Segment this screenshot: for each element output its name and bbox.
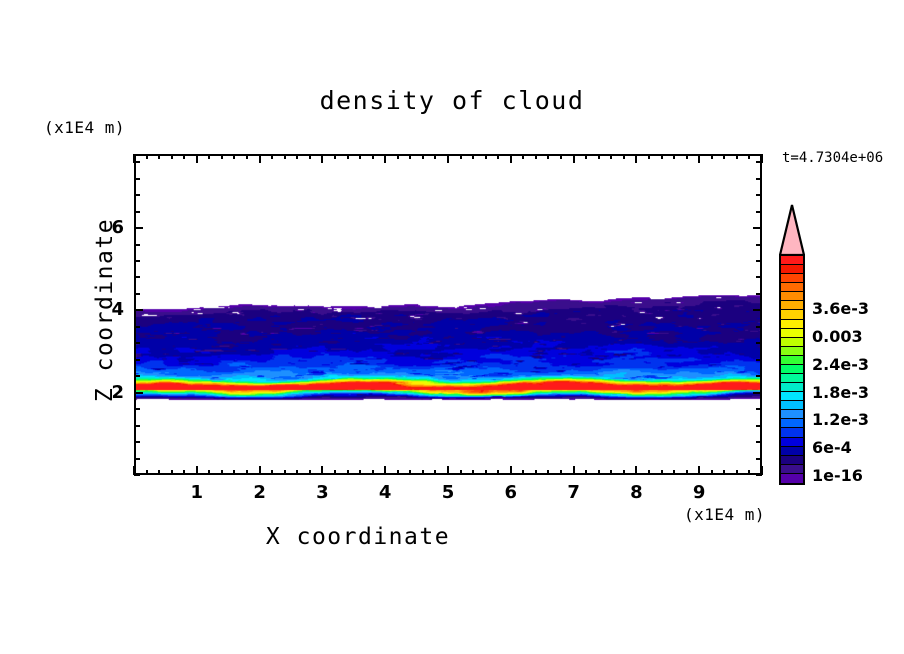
colorbar-band	[781, 356, 803, 365]
x-tick-label: 6	[491, 482, 531, 503]
x-tick	[183, 154, 185, 159]
y-tick	[134, 425, 140, 427]
colorbar-band	[781, 447, 803, 456]
x-tick	[397, 154, 399, 159]
x-tick	[497, 154, 499, 159]
y-tick	[134, 375, 140, 377]
x-tick	[711, 470, 713, 475]
x-tick	[183, 470, 185, 475]
x-tick	[246, 154, 248, 159]
colorbar-band	[781, 365, 803, 374]
x-tick-label: 9	[679, 482, 719, 503]
x-tick-label: 2	[240, 482, 280, 503]
colorbar-tick-label: 6e-4	[812, 438, 852, 457]
x-tick	[610, 154, 612, 159]
x-tick	[309, 154, 311, 159]
y-tick	[753, 227, 762, 229]
x-tick	[221, 154, 223, 159]
x-tick	[409, 154, 411, 159]
x-tick	[434, 154, 436, 159]
y-tick	[756, 293, 762, 295]
x-tick	[422, 154, 424, 159]
colorbar-band	[781, 392, 803, 401]
colorbar-tick-label: 0.003	[812, 327, 863, 346]
x-tick	[698, 154, 700, 163]
x-tick	[748, 470, 750, 475]
x-tick	[208, 470, 210, 475]
x-tick	[485, 154, 487, 159]
x-tick	[723, 154, 725, 159]
x-tick	[748, 154, 750, 159]
x-tick	[284, 470, 286, 475]
x-tick	[573, 466, 575, 475]
x-tick	[547, 154, 549, 159]
colorbar-band	[781, 265, 803, 274]
colorbar-tick-label: 1.8e-3	[812, 383, 869, 402]
x-tick	[522, 154, 524, 159]
y-tick-label: 6	[84, 217, 124, 238]
colorbar-band	[781, 329, 803, 338]
x-tick	[573, 154, 575, 163]
x-tick	[233, 470, 235, 475]
y-tick	[134, 227, 143, 229]
colorbar-band	[781, 456, 803, 465]
y-tick	[756, 244, 762, 246]
x-tick	[510, 154, 512, 163]
x-tick	[158, 470, 160, 475]
y-tick	[134, 441, 140, 443]
x-tick	[334, 154, 336, 159]
y-tick	[134, 161, 140, 163]
x-tick-label: 3	[302, 482, 342, 503]
x-tick	[334, 470, 336, 475]
x-tick	[171, 154, 173, 159]
y-tick	[756, 408, 762, 410]
x-tick	[447, 154, 449, 163]
y-tick	[134, 392, 143, 394]
y-tick	[756, 441, 762, 443]
x-tick	[585, 154, 587, 159]
y-tick	[756, 474, 762, 476]
x-tick	[309, 470, 311, 475]
x-tick	[284, 154, 286, 159]
y-tick	[134, 276, 140, 278]
x-tick-label: 7	[554, 482, 594, 503]
colorbar-band	[781, 474, 803, 483]
y-tick	[756, 458, 762, 460]
y-tick	[756, 260, 762, 262]
x-tick	[409, 470, 411, 475]
y-tick	[134, 244, 140, 246]
colorbar-band	[781, 292, 803, 301]
x-tick	[673, 470, 675, 475]
x-tick	[146, 470, 148, 475]
x-tick	[259, 466, 261, 475]
y-tick	[756, 276, 762, 278]
x-tick	[673, 154, 675, 159]
x-tick	[610, 470, 612, 475]
y-tick	[134, 178, 140, 180]
x-tick	[158, 154, 160, 159]
x-tick	[598, 154, 600, 159]
x-tick	[485, 470, 487, 475]
page-title: density of cloud	[0, 86, 904, 115]
x-tick-label: 4	[365, 482, 405, 503]
colorbar-band	[781, 320, 803, 329]
colorbar-band	[781, 338, 803, 347]
x-tick	[736, 470, 738, 475]
y-axis-units-label: (x1E4 m)	[44, 118, 125, 137]
x-tick	[661, 154, 663, 159]
x-axis-units-label: (x1E4 m)	[684, 505, 765, 524]
y-tick	[134, 474, 140, 476]
y-tick	[756, 161, 762, 163]
x-tick	[221, 470, 223, 475]
colorbar-tick-label: 2.4e-3	[812, 355, 869, 374]
time-annotation: t=4.7304e+06	[782, 150, 883, 166]
colorbar-band	[781, 310, 803, 319]
x-tick	[560, 154, 562, 159]
x-tick	[359, 470, 361, 475]
x-tick	[686, 470, 688, 475]
x-tick	[434, 470, 436, 475]
y-tick	[753, 309, 762, 311]
y-tick-label: 4	[84, 299, 124, 320]
x-tick	[146, 154, 148, 159]
x-tick	[635, 466, 637, 475]
colorbar-tick-label: 1.2e-3	[812, 410, 869, 429]
contour-field	[136, 156, 760, 473]
x-tick	[585, 470, 587, 475]
y-tick	[134, 211, 140, 213]
y-tick	[756, 342, 762, 344]
x-tick	[736, 154, 738, 159]
colorbar-band	[781, 410, 803, 419]
y-tick	[756, 425, 762, 427]
x-tick	[422, 470, 424, 475]
y-tick	[134, 458, 140, 460]
colorbar-band	[781, 383, 803, 392]
x-tick	[510, 466, 512, 475]
colorbar-band	[781, 347, 803, 356]
y-tick	[756, 178, 762, 180]
x-axis-label: X coordinate	[0, 524, 716, 550]
figure-canvas: density of cloud (x1E4 m) Z coordinate X…	[0, 0, 904, 654]
x-tick	[623, 154, 625, 159]
x-tick	[472, 154, 474, 159]
x-tick	[397, 470, 399, 475]
y-tick	[134, 260, 140, 262]
x-tick	[460, 470, 462, 475]
x-tick	[347, 470, 349, 475]
y-tick	[753, 392, 762, 394]
colorbar-tick-label: 3.6e-3	[812, 299, 869, 318]
x-tick	[623, 470, 625, 475]
y-tick	[756, 375, 762, 377]
y-tick	[756, 194, 762, 196]
x-tick	[535, 154, 537, 159]
x-tick	[296, 470, 298, 475]
x-tick	[522, 470, 524, 475]
x-tick	[560, 470, 562, 475]
x-tick	[447, 466, 449, 475]
x-tick	[698, 466, 700, 475]
x-tick	[635, 154, 637, 163]
x-tick	[472, 470, 474, 475]
x-tick	[723, 470, 725, 475]
colorbar-band	[781, 256, 803, 265]
colorbar-band	[781, 438, 803, 447]
x-tick	[460, 154, 462, 159]
plot-area	[134, 154, 762, 475]
y-tick-label: 2	[84, 382, 124, 403]
y-tick	[756, 326, 762, 328]
y-tick	[134, 408, 140, 410]
x-tick-label: 1	[177, 482, 217, 503]
x-tick-label: 5	[428, 482, 468, 503]
x-tick	[384, 466, 386, 475]
x-tick	[711, 154, 713, 159]
colorbar-band	[781, 419, 803, 428]
x-tick-label: 8	[616, 482, 656, 503]
y-tick	[134, 359, 140, 361]
colorbar-band	[781, 401, 803, 410]
y-tick	[756, 359, 762, 361]
colorbar-band	[781, 374, 803, 383]
colorbar-band	[781, 283, 803, 292]
x-tick	[648, 470, 650, 475]
colorbar-band	[781, 301, 803, 310]
x-tick	[497, 470, 499, 475]
x-tick	[372, 154, 374, 159]
x-tick	[321, 466, 323, 475]
x-tick	[296, 154, 298, 159]
y-tick	[134, 194, 140, 196]
x-tick	[686, 154, 688, 159]
colorbar-bands	[779, 254, 805, 485]
x-tick	[171, 470, 173, 475]
y-tick	[756, 211, 762, 213]
colorbar-band	[781, 465, 803, 474]
colorbar-arrow-icon	[779, 204, 805, 256]
x-tick	[196, 466, 198, 475]
colorbar-band	[781, 274, 803, 283]
x-tick	[271, 470, 273, 475]
colorbar-band	[781, 428, 803, 437]
x-tick	[246, 470, 248, 475]
x-tick	[372, 470, 374, 475]
x-tick	[359, 154, 361, 159]
y-tick	[134, 326, 140, 328]
x-tick	[208, 154, 210, 159]
y-tick	[134, 293, 140, 295]
colorbar-tick-label: 1e-16	[812, 466, 863, 485]
x-tick	[196, 154, 198, 163]
y-tick	[134, 309, 143, 311]
x-tick	[321, 154, 323, 163]
x-tick	[271, 154, 273, 159]
x-tick	[648, 154, 650, 159]
x-tick	[598, 470, 600, 475]
x-tick	[661, 470, 663, 475]
x-tick	[547, 470, 549, 475]
x-tick	[384, 154, 386, 163]
x-tick	[347, 154, 349, 159]
x-tick	[233, 154, 235, 159]
colorbar	[779, 204, 805, 485]
x-tick	[535, 470, 537, 475]
y-tick	[134, 342, 140, 344]
x-tick	[259, 154, 261, 163]
